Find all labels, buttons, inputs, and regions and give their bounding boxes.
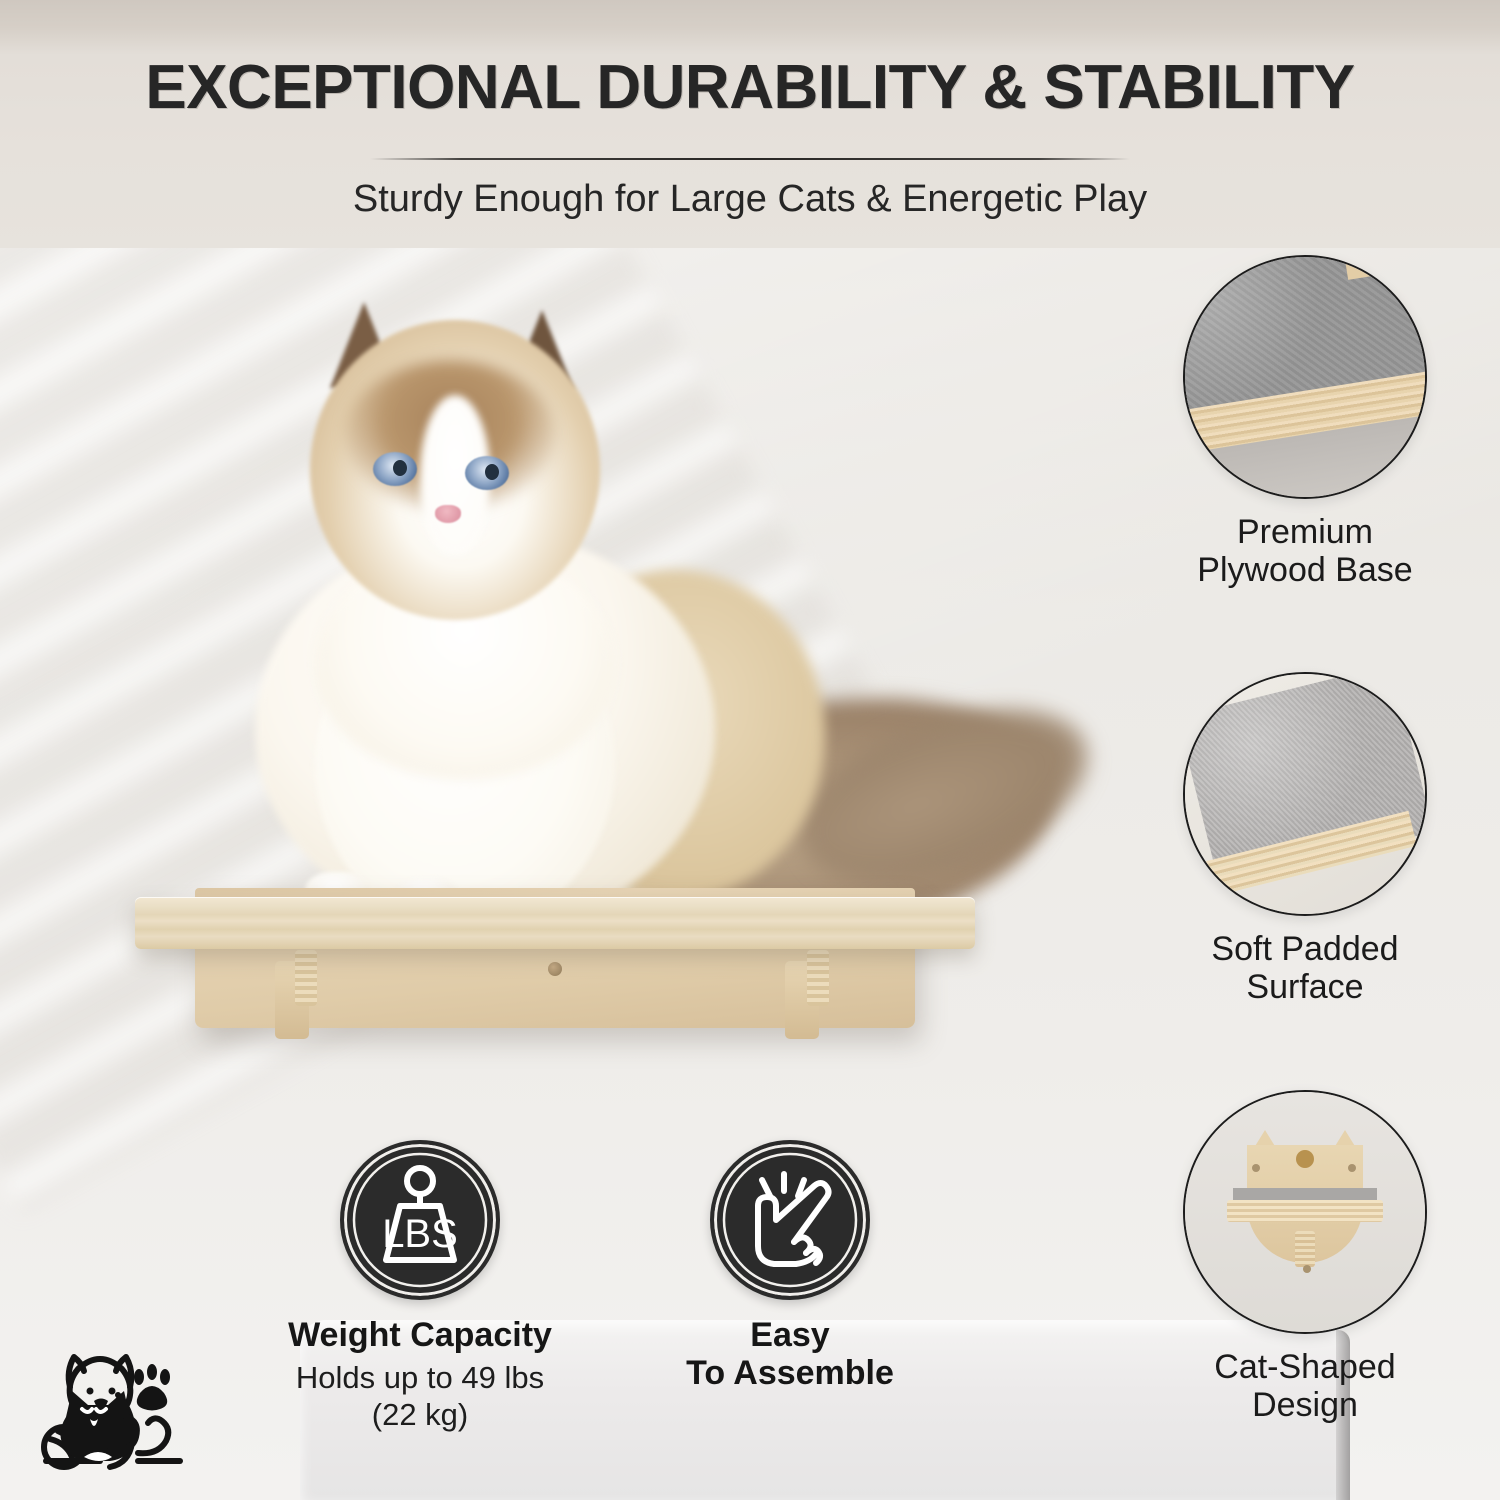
shelf-platform bbox=[135, 897, 975, 949]
weight-lbs-icon: LBS bbox=[340, 1140, 500, 1300]
feature-label: Premium Plywood Base bbox=[1155, 513, 1455, 590]
cat-pupil-right bbox=[485, 464, 499, 480]
screw-bottom bbox=[1303, 1265, 1311, 1273]
feature-image-cat-shaped-design bbox=[1183, 1090, 1427, 1334]
badge-subtitle: Holds up to 49 lbs (22 kg) bbox=[255, 1360, 585, 1433]
weight-icon-glyph: LBS bbox=[344, 1144, 496, 1296]
snap-hand-glyph bbox=[714, 1144, 866, 1296]
shelf-wedge-left bbox=[295, 950, 317, 1006]
page-title: EXCEPTIONAL DURABILITY & STABILITY bbox=[0, 52, 1500, 123]
infographic-canvas: EXCEPTIONAL DURABILITY & STABILITY Sturd… bbox=[0, 0, 1500, 1500]
badge-weight-capacity: LBS Weight Capacity Holds up to 49 lbs (… bbox=[255, 1140, 585, 1433]
cat-pupil-left bbox=[393, 460, 407, 476]
wall-mounted-cat-shelf bbox=[135, 875, 975, 1040]
feature-cat-shaped-design: Cat-Shaped Design bbox=[1155, 1090, 1455, 1425]
shelf-wedge-right bbox=[807, 950, 829, 1006]
snapping-fingers-icon bbox=[710, 1140, 870, 1300]
title-divider bbox=[370, 158, 1130, 160]
feature-label: Cat-Shaped Design bbox=[1155, 1348, 1455, 1425]
ragdoll-cat bbox=[195, 300, 995, 920]
feature-premium-plywood-base: Premium Plywood Base bbox=[1155, 255, 1455, 590]
cat-nose bbox=[435, 505, 461, 523]
felt-strip bbox=[1233, 1188, 1377, 1200]
shelf-ledge bbox=[1227, 1200, 1383, 1222]
support-bracket bbox=[1295, 1231, 1315, 1267]
feature-image-padded-surface bbox=[1183, 672, 1427, 916]
feature-image-plywood-base bbox=[1183, 255, 1427, 499]
feature-soft-padded-surface: Soft Padded Surface bbox=[1155, 672, 1455, 1007]
badge-easy-to-assemble: Easy To Assemble bbox=[625, 1140, 955, 1398]
header-band: EXCEPTIONAL DURABILITY & STABILITY Sturd… bbox=[0, 0, 1500, 250]
dog-cat-paw-ball-logo-glyph bbox=[40, 1335, 200, 1485]
feature-label: Soft Padded Surface bbox=[1155, 930, 1455, 1007]
badge-title: Easy To Assemble bbox=[625, 1316, 955, 1392]
badge-title: Weight Capacity bbox=[255, 1316, 585, 1354]
page-subtitle: Sturdy Enough for Large Cats & Energetic… bbox=[0, 178, 1500, 221]
brand-logo bbox=[40, 1335, 200, 1485]
paw-print bbox=[134, 1364, 170, 1411]
wood-corner-nub bbox=[1344, 255, 1374, 280]
brand-stamp-icon bbox=[1296, 1150, 1314, 1168]
lbs-label: LBS bbox=[382, 1212, 458, 1256]
